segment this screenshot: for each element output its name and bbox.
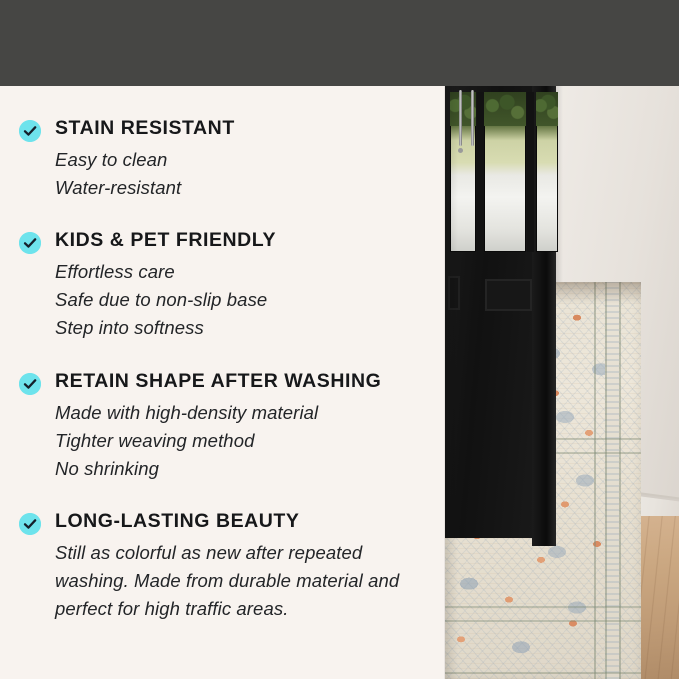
feature-item-long-lasting-beauty: LONG-LASTING BEAUTY Still as colorful as… <box>0 510 445 623</box>
door-recessed-panel <box>485 279 532 311</box>
feature-detail: Tighter weaving method <box>55 427 445 455</box>
panel-divider <box>444 86 445 679</box>
feature-item-retain-shape: RETAIN SHAPE AFTER WASHING Made with hig… <box>0 370 445 483</box>
feature-detail-list: Made with high-density material Tighter … <box>55 399 445 483</box>
feature-title: LONG-LASTING BEAUTY <box>55 510 445 533</box>
door-mullion <box>527 92 534 252</box>
check-circle-icon <box>19 373 41 395</box>
entryway-photo <box>444 86 679 679</box>
feature-detail: Easy to clean <box>55 146 445 174</box>
feature-detail: Safe due to non-slip base <box>55 286 445 314</box>
feature-detail-list: Easy to clean Water-resistant <box>55 146 445 202</box>
feature-item-kids-pet-friendly: KIDS & PET FRIENDLY Effortless care Safe… <box>0 229 445 342</box>
window-foliage <box>484 92 526 126</box>
rug-band <box>444 606 641 608</box>
feature-detail: No shrinking <box>55 455 445 483</box>
feature-detail: Water-resistant <box>55 174 445 202</box>
door-handle-icon <box>471 90 474 146</box>
header-bar <box>0 0 679 86</box>
rug-band <box>444 620 641 622</box>
door-mullion <box>477 92 484 252</box>
feature-title: STAIN RESISTANT <box>55 117 445 140</box>
feature-detail: Still as colorful as new after repeated … <box>55 539 430 623</box>
feature-detail-list: Still as colorful as new after repeated … <box>55 539 445 623</box>
door-handle-icon <box>459 90 462 146</box>
feature-title: KIDS & PET FRIENDLY <box>55 229 445 252</box>
feature-detail: Effortless care <box>55 258 445 286</box>
door-lock-icon <box>458 148 463 153</box>
feature-item-stain-resistant: STAIN RESISTANT Easy to clean Water-resi… <box>0 117 445 202</box>
feature-title: RETAIN SHAPE AFTER WASHING <box>55 370 445 393</box>
feature-detail: Made with high-density material <box>55 399 445 427</box>
check-circle-icon <box>19 120 41 142</box>
door-recessed-panel <box>448 276 460 310</box>
window-foliage <box>536 92 558 126</box>
feature-list: STAIN RESISTANT Easy to clean Water-resi… <box>0 86 445 623</box>
feature-detail-list: Effortless care Safe due to non-slip bas… <box>55 258 445 342</box>
rug-band <box>444 672 641 674</box>
features-panel: STAIN RESISTANT Easy to clean Water-resi… <box>0 86 445 679</box>
check-circle-icon <box>19 232 41 254</box>
check-circle-icon <box>19 513 41 535</box>
features-infographic: OUR UNIQUE FEATURES <box>0 0 679 679</box>
feature-detail: Step into softness <box>55 314 445 342</box>
